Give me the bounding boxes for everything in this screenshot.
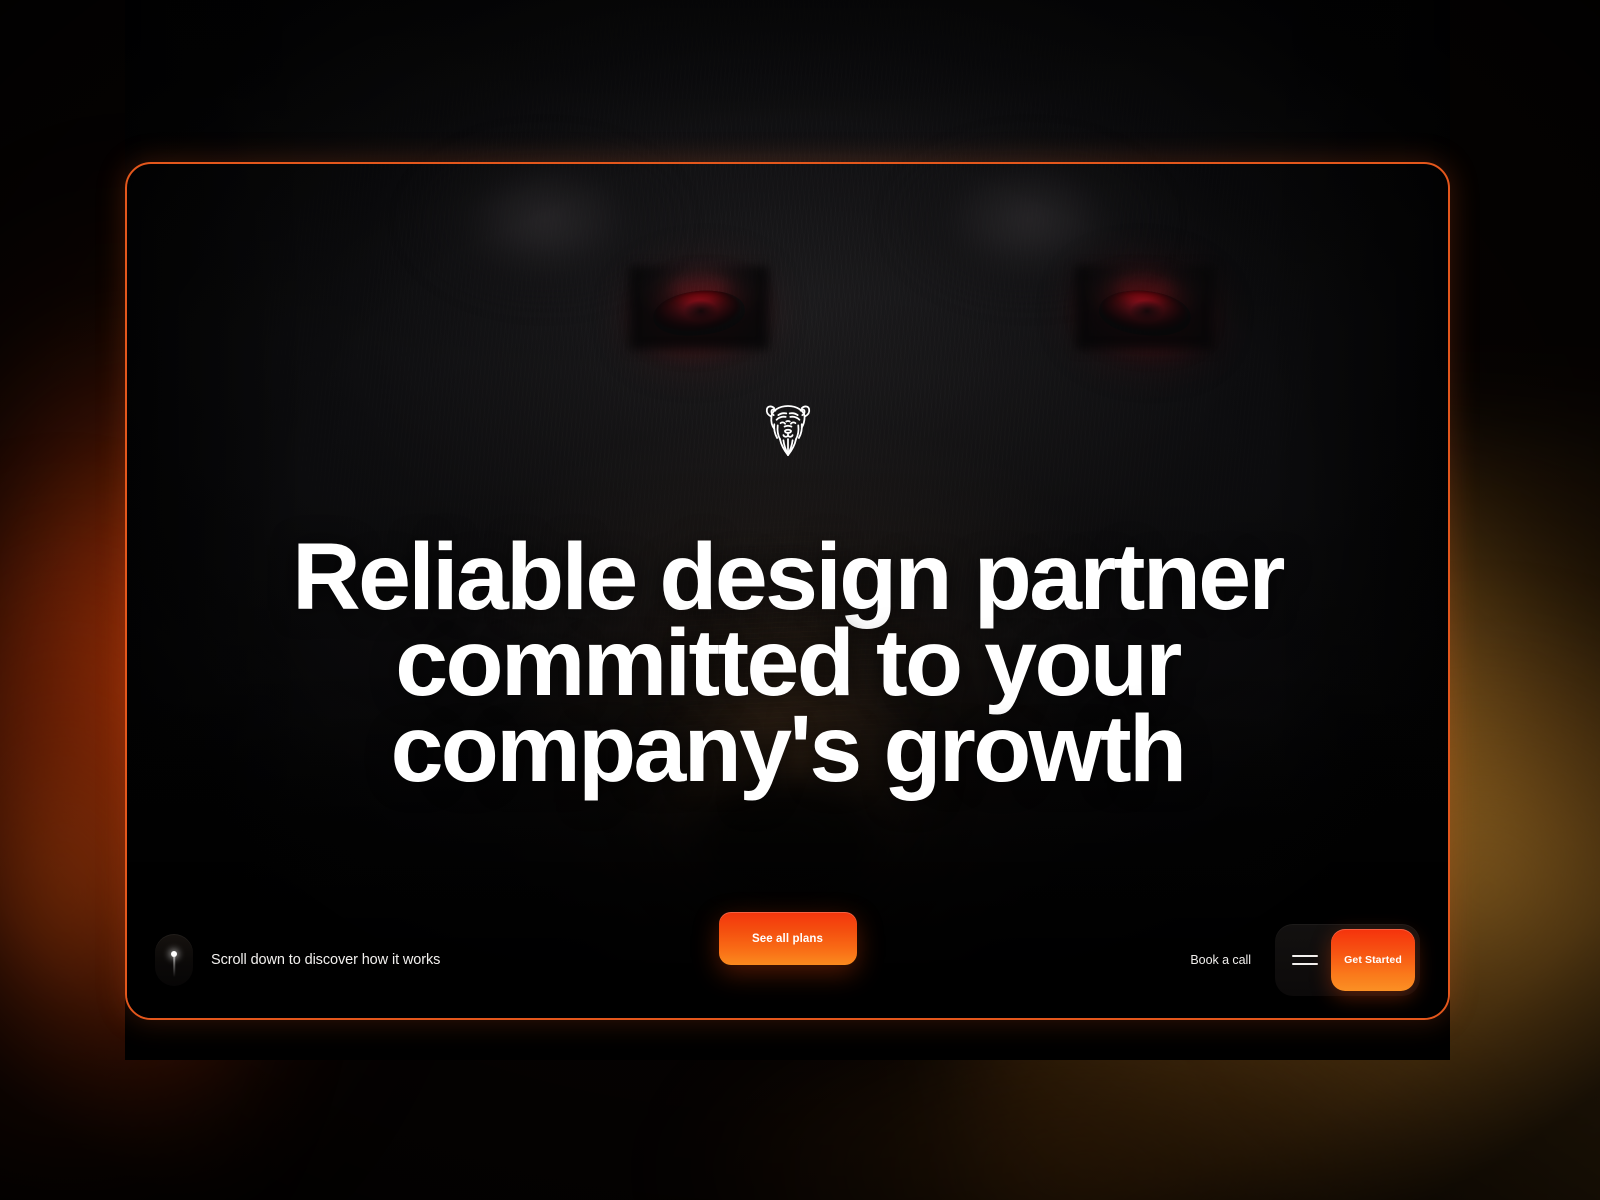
scroll-dot (171, 951, 177, 957)
hero-card-content: Reliable design partner committed to you… (127, 164, 1448, 1018)
bottom-nav: Book a call Get Started (1190, 924, 1420, 996)
get-started-button[interactable]: Get Started (1331, 929, 1415, 991)
scroll-trail (173, 957, 175, 977)
scroll-hint-label: Scroll down to discover how it works (211, 952, 440, 968)
page-root: Reliable design partner committed to you… (0, 0, 1600, 1200)
menu-line-2 (1292, 963, 1318, 965)
page-title: Reliable design partner committed to you… (258, 534, 1318, 792)
hero-bottom-bar: Scroll down to discover how it works Boo… (127, 924, 1448, 996)
mouse-scroll-icon[interactable] (155, 934, 193, 986)
hero-card: Reliable design partner committed to you… (125, 162, 1450, 1020)
bear-head-logo-icon (759, 398, 817, 462)
scroll-hint[interactable]: Scroll down to discover how it works (155, 924, 440, 996)
book-a-call-link[interactable]: Book a call (1190, 953, 1251, 967)
hamburger-menu-icon[interactable] (1279, 924, 1331, 996)
menu-line-1 (1292, 955, 1318, 957)
nav-pill-container: Get Started (1275, 924, 1420, 996)
